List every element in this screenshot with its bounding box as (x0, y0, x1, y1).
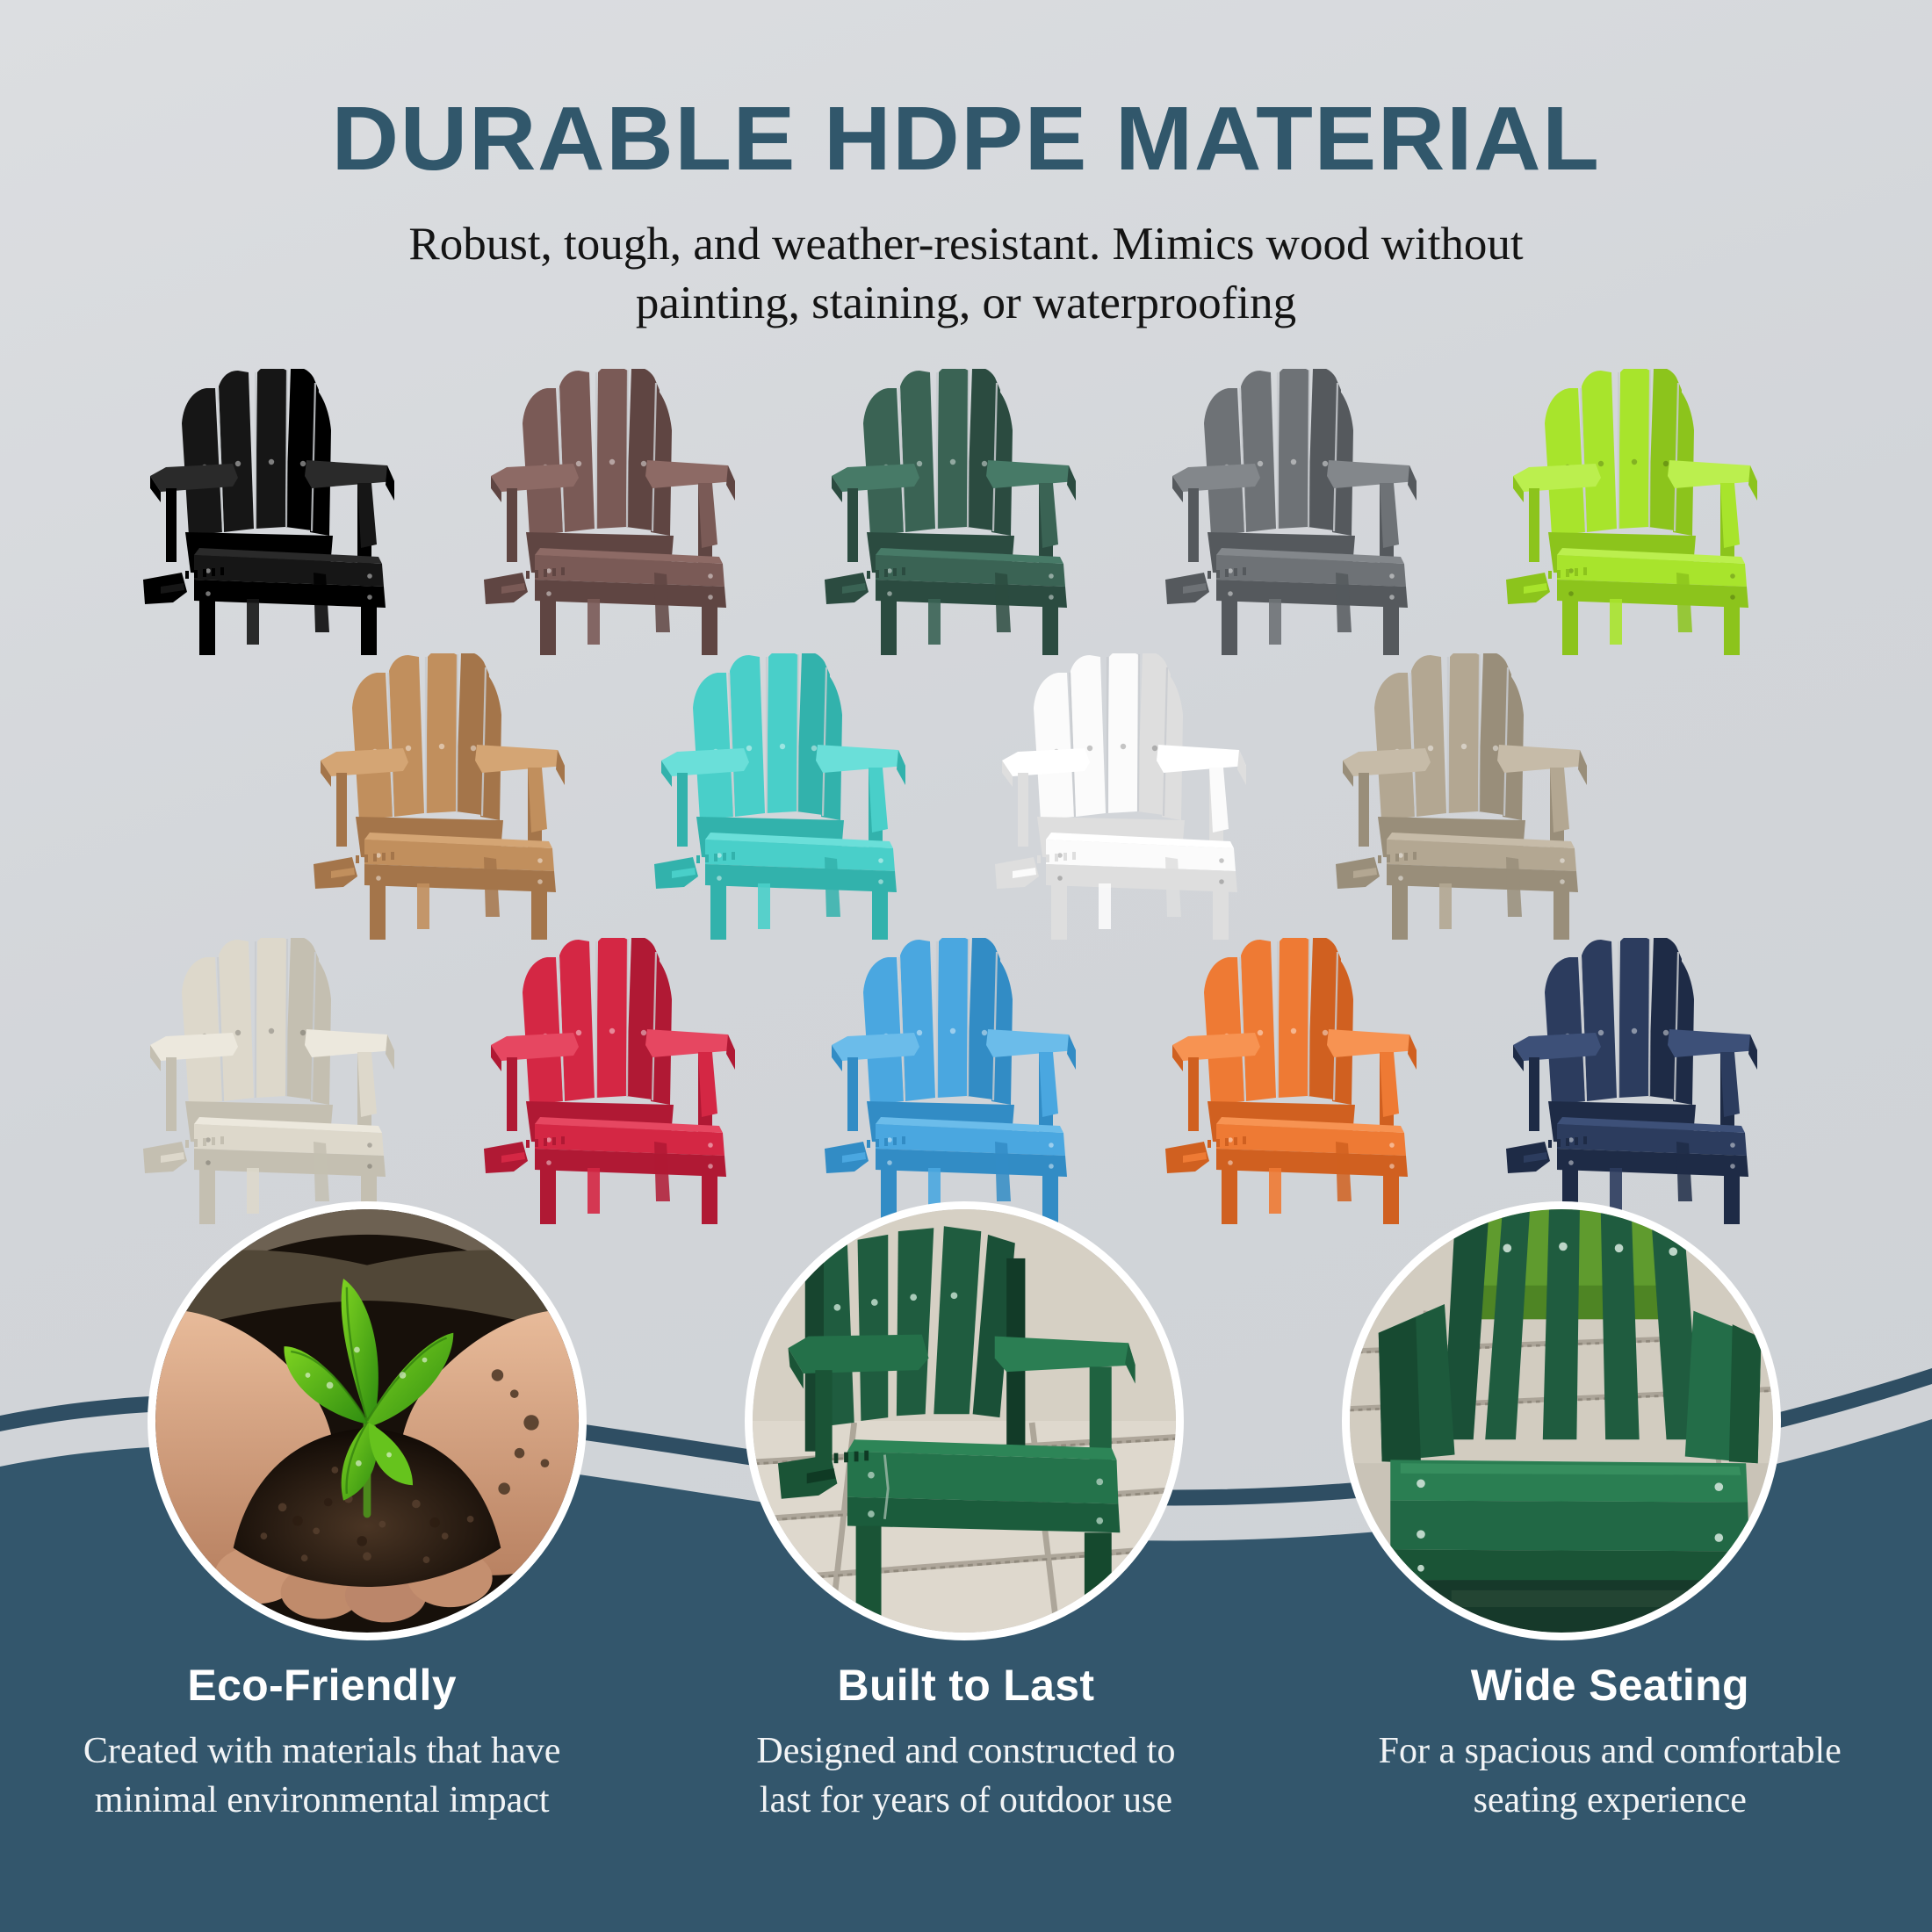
chair-swatch-red[interactable] (472, 938, 779, 1228)
chair-image-black (131, 369, 438, 659)
feature-circle-row (0, 1201, 1932, 1693)
feature-desc-line-2: seating experience (1474, 1780, 1747, 1820)
chair-graphic (1153, 938, 1460, 1228)
feature-image-wide-seating (1342, 1201, 1781, 1640)
chair-image-turquoise (642, 653, 949, 943)
feature-desc-wide-seating: For a spacious and comfortable seating e… (1313, 1727, 1907, 1826)
header-block: DURABLE HDPE MATERIAL Robust, tough, and… (0, 91, 1932, 333)
chair-image-teak (301, 653, 609, 943)
chair-swatch-white[interactable] (983, 653, 1290, 943)
chair-graphic (472, 369, 779, 659)
feature-desc-line-2: minimal environmental impact (95, 1780, 550, 1820)
chair-graphic (1153, 369, 1460, 659)
chair-row-2 (0, 653, 1932, 943)
chair-graphic (131, 369, 438, 659)
chair-swatch-orange[interactable] (1153, 938, 1460, 1228)
chair-swatch-teak[interactable] (301, 653, 609, 943)
chair-row-1 (0, 369, 1932, 659)
chair-swatch-lime-green[interactable] (1494, 369, 1801, 659)
chair-image-navy-blue (1494, 938, 1801, 1228)
wide-seat-closeup-illustration (1350, 1209, 1773, 1633)
feature-desc-line-2: last for years of outdoor use (760, 1780, 1172, 1820)
chair-swatch-light-blue[interactable] (812, 938, 1120, 1228)
chair-image-orange (1153, 938, 1460, 1228)
chair-swatch-ivory[interactable] (131, 938, 438, 1228)
chair-swatch-navy-blue[interactable] (1494, 938, 1801, 1228)
chair-graphic (812, 938, 1120, 1228)
chair-graphic (1494, 938, 1801, 1228)
chair-graphic (472, 938, 779, 1228)
chair-row-3 (0, 938, 1932, 1228)
chair-swatch-black[interactable] (131, 369, 438, 659)
chair-image-khaki (1323, 653, 1631, 943)
feature-desc-eco-friendly: Created with materials that have minimal… (25, 1727, 619, 1826)
chair-image-lime-green (1494, 369, 1801, 659)
feature-image-eco-friendly (148, 1201, 587, 1640)
chair-graphic (642, 653, 949, 943)
feature-eco-friendly: Eco-Friendly Created with materials that… (0, 1660, 644, 1826)
chair-image-red (472, 938, 779, 1228)
chair-swatch-brown[interactable] (472, 369, 779, 659)
chair-swatch-gray[interactable] (1153, 369, 1460, 659)
feature-title-built-to-last: Built to Last (668, 1660, 1263, 1711)
green-chair-on-patio-illustration (753, 1209, 1176, 1633)
chair-image-white (983, 653, 1290, 943)
chair-image-ivory (131, 938, 438, 1228)
feature-desc-line-1: Created with materials that have (83, 1731, 560, 1771)
color-swatch-grid (0, 369, 1932, 1228)
feature-title-wide-seating: Wide Seating (1313, 1660, 1907, 1711)
chair-swatch-khaki[interactable] (1323, 653, 1631, 943)
page-title: DURABLE HDPE MATERIAL (0, 91, 1932, 185)
chair-swatch-turquoise[interactable] (642, 653, 949, 943)
infographic-page: DURABLE HDPE MATERIAL Robust, tough, and… (0, 0, 1932, 1932)
chair-graphic (131, 938, 438, 1228)
chair-image-brown (472, 369, 779, 659)
hands-soil-seedling-illustration (155, 1209, 579, 1633)
chair-graphic (983, 653, 1290, 943)
chair-image-light-blue (812, 938, 1120, 1228)
chair-graphic (1323, 653, 1631, 943)
subtitle-line-1: Robust, tough, and weather-resistant. Mi… (408, 219, 1523, 270)
feature-caption-row: Eco-Friendly Created with materials that… (0, 1660, 1932, 1826)
page-subtitle: Robust, tough, and weather-resistant. Mi… (281, 215, 1651, 333)
feature-wide-seating: Wide Seating For a spacious and comforta… (1288, 1660, 1932, 1826)
chair-graphic (812, 369, 1120, 659)
feature-desc-line-1: For a spacious and comfortable (1379, 1731, 1842, 1771)
feature-image-built-to-last (745, 1201, 1184, 1640)
chair-image-dark-green (812, 369, 1120, 659)
chair-image-gray (1153, 369, 1460, 659)
feature-title-eco-friendly: Eco-Friendly (25, 1660, 619, 1711)
feature-desc-built-to-last: Designed and constructed to last for yea… (668, 1727, 1263, 1826)
chair-swatch-dark-green[interactable] (812, 369, 1120, 659)
chair-graphic (301, 653, 609, 943)
subtitle-line-2: painting, staining, or waterproofing (636, 278, 1296, 328)
chair-graphic (1494, 369, 1801, 659)
feature-desc-line-1: Designed and constructed to (756, 1731, 1175, 1771)
feature-built-to-last: Built to Last Designed and constructed t… (644, 1660, 1287, 1826)
